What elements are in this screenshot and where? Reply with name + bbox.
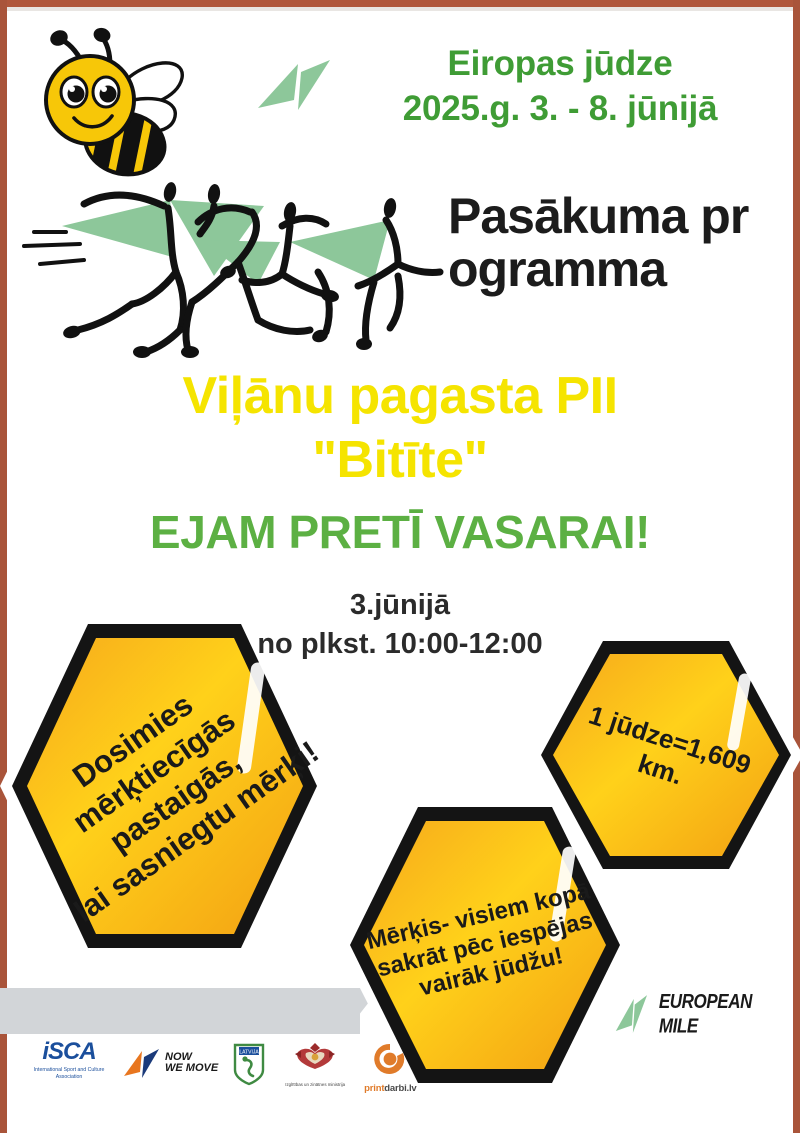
event-time: no plkst. 10:00-12:00 — [180, 625, 620, 664]
european-mile-label: EUROPEAN MILE — [659, 990, 788, 1039]
bee-illustration — [26, 18, 216, 193]
school-name-line1: Viļānu pagasta PII — [182, 367, 617, 425]
printdarbi-darbi-part: darbi.lv — [384, 1083, 416, 1094]
european-mile-arrow-icon — [252, 50, 338, 120]
latvia-shield-label: LATVIJA — [239, 1049, 259, 1055]
program-heading: Pasākuma programma — [448, 190, 766, 296]
event-title-line1: Eiropas jūdze — [360, 42, 760, 87]
european-mile-logo: EUROPEAN MILE — [613, 985, 788, 1043]
latvia-coat-of-arms-icon — [289, 1040, 341, 1074]
ministry-logo: Izglītības un zinātnes ministrija — [280, 1040, 350, 1088]
frame-right-edge — [793, 0, 800, 1133]
frame-top-edge — [0, 0, 800, 7]
printdarbi-logo: printdarbi.lv — [364, 1042, 416, 1094]
isca-wordmark: iSCA — [30, 1040, 108, 1064]
latvia-shield-icon: LATVIJA — [232, 1042, 266, 1086]
poster-slogan: EJAM PRETĪ VASARAI! — [40, 508, 760, 556]
now-we-move-arrow-icon — [122, 1046, 162, 1080]
isca-subtitle: International Sport and Culture Associat… — [30, 1067, 108, 1080]
now-we-move-logo: NOW WE MOVE — [122, 1046, 218, 1080]
event-title-line2: 2025.g. 3. - 8. jūnijā — [360, 87, 760, 132]
poster-canvas: Eiropas jūdze 2025.g. 3. - 8. jūnijā Pas… — [0, 0, 800, 1133]
european-mile-arrow-mark-icon — [613, 988, 651, 1040]
frame-inner-highlight — [7, 7, 793, 11]
event-datetime-block: 3.jūnijā no plkst. 10:00-12:00 — [180, 586, 620, 664]
now-we-move-label: NOW WE MOVE — [165, 1052, 218, 1074]
latvia-emblem-logo: LATVIJA — [232, 1042, 266, 1091]
event-title-block: Eiropas jūdze 2025.g. 3. - 8. jūnijā — [360, 42, 760, 132]
printdarbi-wordmark: printdarbi.lv — [364, 1083, 416, 1094]
now-we-move-line2: WE MOVE — [165, 1063, 218, 1074]
isca-logo: iSCA International Sport and Culture Ass… — [30, 1040, 108, 1080]
runners-illustration — [18, 180, 448, 360]
event-date: 3.jūnijā — [180, 586, 620, 625]
ministry-subtitle: Izglītības un zinātnes ministrija — [280, 1082, 350, 1088]
printdarbi-circle-icon — [373, 1042, 407, 1076]
school-name-line2: "Bitīte" — [60, 432, 740, 488]
printdarbi-print-part: print — [364, 1083, 384, 1094]
school-name-block: Viļānu pagasta PII "Bitīte" — [60, 368, 740, 488]
sponsor-logo-strip: iSCA International Sport and Culture Ass… — [30, 1040, 450, 1110]
